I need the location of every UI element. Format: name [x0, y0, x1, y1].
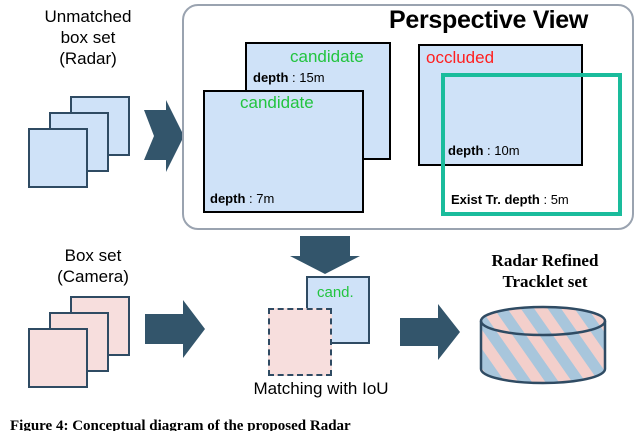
box-label-candidate: candidate: [240, 93, 314, 113]
camera-box-stack: [28, 296, 148, 388]
matching-with-iou-label: Matching with IoU: [218, 378, 424, 399]
iou-matching-group: cand.: [268, 276, 376, 384]
detection-box-candidate-7m: candidate depth : 7m: [203, 90, 364, 213]
box-label-occluded: occluded: [426, 48, 494, 68]
radar-box-stack: [28, 96, 148, 188]
arrow-panel-to-matching: [288, 234, 362, 276]
camera-box-card: [28, 328, 88, 388]
tracklet-database-cylinder: [478, 305, 608, 392]
box-depth-exist-tr-5m: Exist Tr. depth : 5m: [451, 192, 569, 207]
radar-box-card: [28, 128, 88, 188]
existing-tracklet-box: Exist Tr. depth : 5m: [441, 73, 622, 216]
box-depth-15m: depth : 15m: [253, 70, 325, 85]
arrow-camera-to-matching: [143, 298, 207, 360]
arrow-radar-to-panel: [142, 98, 186, 174]
figure-root: Unmatched box set (Radar) Perspective Vi…: [0, 0, 640, 431]
figure-caption: Figure 4: Conceptual diagram of the prop…: [10, 418, 351, 431]
arrow-matching-to-output: [398, 302, 462, 362]
box-label-candidate: candidate: [290, 47, 364, 67]
radar-refined-tracklet-set-label: Radar Refined Tracklet set: [460, 250, 630, 292]
panel-title: Perspective View: [389, 6, 588, 35]
iou-candidate-label: cand.: [317, 284, 354, 301]
unmatched-box-set-label: Unmatched box set (Radar): [8, 6, 168, 69]
iou-camera-box: [268, 308, 332, 376]
camera-box-set-label: Box set (Camera): [8, 245, 178, 287]
box-depth-7m: depth : 7m: [210, 191, 274, 206]
